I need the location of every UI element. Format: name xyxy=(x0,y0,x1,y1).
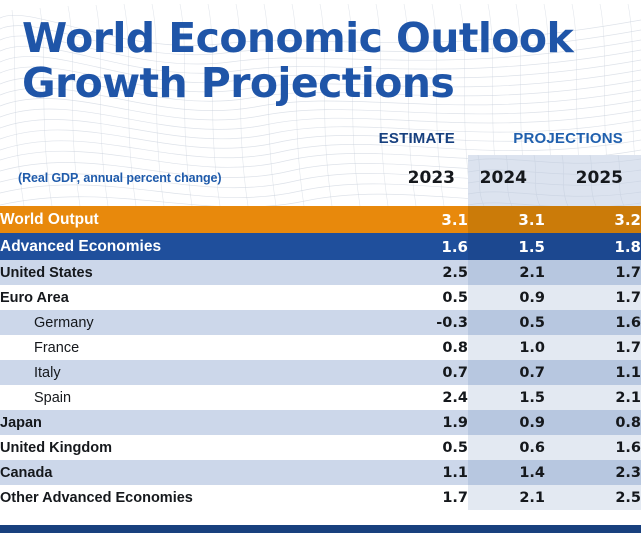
cell-2023: 3.1 xyxy=(387,206,468,233)
cell-2023: 0.5 xyxy=(387,435,468,460)
table-row: France0.81.01.7 xyxy=(0,335,641,360)
footer-bar xyxy=(0,525,641,533)
row-label: Euro Area xyxy=(0,285,387,310)
projections-group-label: PROJECTIONS xyxy=(513,130,623,147)
table-body: World Output3.13.13.2Advanced Economies1… xyxy=(0,206,641,510)
cell-2024: 0.5 xyxy=(468,310,545,335)
year-header-2023: 2023 xyxy=(408,168,455,188)
cell-2023: 2.5 xyxy=(387,260,468,285)
cell-2025: 0.8 xyxy=(545,410,641,435)
cell-2025: 1.1 xyxy=(545,360,641,385)
table-row: World Output3.13.13.2 xyxy=(0,206,641,233)
cell-2025: 1.8 xyxy=(545,233,641,260)
row-label: France xyxy=(0,335,387,360)
title-line-2: Growth Projections xyxy=(22,61,622,106)
table-row: Italy0.70.71.1 xyxy=(0,360,641,385)
table-row: United States2.52.11.7 xyxy=(0,260,641,285)
cell-2023: 1.9 xyxy=(387,410,468,435)
cell-2024: 1.4 xyxy=(468,460,545,485)
row-label: Spain xyxy=(0,385,387,410)
cell-2025: 1.7 xyxy=(545,285,641,310)
row-label: Other Advanced Economies xyxy=(0,485,387,510)
table-row: Other Advanced Economies1.72.12.5 xyxy=(0,485,641,510)
table-row: United Kingdom0.50.61.6 xyxy=(0,435,641,460)
cell-2024: 0.9 xyxy=(468,410,545,435)
cell-2023: 0.5 xyxy=(387,285,468,310)
cell-2025: 3.2 xyxy=(545,206,641,233)
column-group-header: ESTIMATE PROJECTIONS xyxy=(0,130,641,152)
cell-2023: 1.7 xyxy=(387,485,468,510)
cell-2025: 1.6 xyxy=(545,310,641,335)
cell-2024: 0.9 xyxy=(468,285,545,310)
cell-2025: 2.1 xyxy=(545,385,641,410)
cell-2024: 1.0 xyxy=(468,335,545,360)
table-row: Spain2.41.52.1 xyxy=(0,385,641,410)
title-line-1: World Economic Outlook xyxy=(22,16,622,61)
table-row: Germany-0.30.51.6 xyxy=(0,310,641,335)
row-label: United Kingdom xyxy=(0,435,387,460)
year-header-2024: 2024 xyxy=(480,168,527,188)
cell-2025: 2.5 xyxy=(545,485,641,510)
cell-2023: 2.4 xyxy=(387,385,468,410)
weo-growth-projections-page: World Economic Outlook Growth Projection… xyxy=(0,0,641,533)
cell-2025: 1.7 xyxy=(545,335,641,360)
row-label: Germany xyxy=(0,310,387,335)
row-label: United States xyxy=(0,260,387,285)
page-title: World Economic Outlook Growth Projection… xyxy=(22,16,622,106)
growth-projections-table: World Output3.13.13.2Advanced Economies1… xyxy=(0,206,641,510)
cell-2023: -0.3 xyxy=(387,310,468,335)
row-label: Canada xyxy=(0,460,387,485)
cell-2023: 0.8 xyxy=(387,335,468,360)
row-label: World Output xyxy=(0,206,387,233)
cell-2024: 3.1 xyxy=(468,206,545,233)
units-subtitle: (Real GDP, annual percent change) xyxy=(18,171,221,185)
table-row: Advanced Economies1.61.51.8 xyxy=(0,233,641,260)
cell-2025: 1.6 xyxy=(545,435,641,460)
cell-2024: 0.7 xyxy=(468,360,545,385)
estimate-group-label: ESTIMATE xyxy=(379,130,455,147)
row-label: Advanced Economies xyxy=(0,233,387,260)
cell-2024: 1.5 xyxy=(468,385,545,410)
year-header-row: (Real GDP, annual percent change) 2023 2… xyxy=(0,168,641,194)
table-row: Canada1.11.42.3 xyxy=(0,460,641,485)
row-label: Italy xyxy=(0,360,387,385)
cell-2025: 1.7 xyxy=(545,260,641,285)
year-header-2025: 2025 xyxy=(576,168,623,188)
cell-2024: 1.5 xyxy=(468,233,545,260)
row-label: Japan xyxy=(0,410,387,435)
cell-2024: 2.1 xyxy=(468,485,545,510)
cell-2023: 1.6 xyxy=(387,233,468,260)
cell-2025: 2.3 xyxy=(545,460,641,485)
table-row: Euro Area0.50.91.7 xyxy=(0,285,641,310)
table-row: Japan1.90.90.8 xyxy=(0,410,641,435)
cell-2024: 0.6 xyxy=(468,435,545,460)
cell-2024: 2.1 xyxy=(468,260,545,285)
cell-2023: 1.1 xyxy=(387,460,468,485)
cell-2023: 0.7 xyxy=(387,360,468,385)
